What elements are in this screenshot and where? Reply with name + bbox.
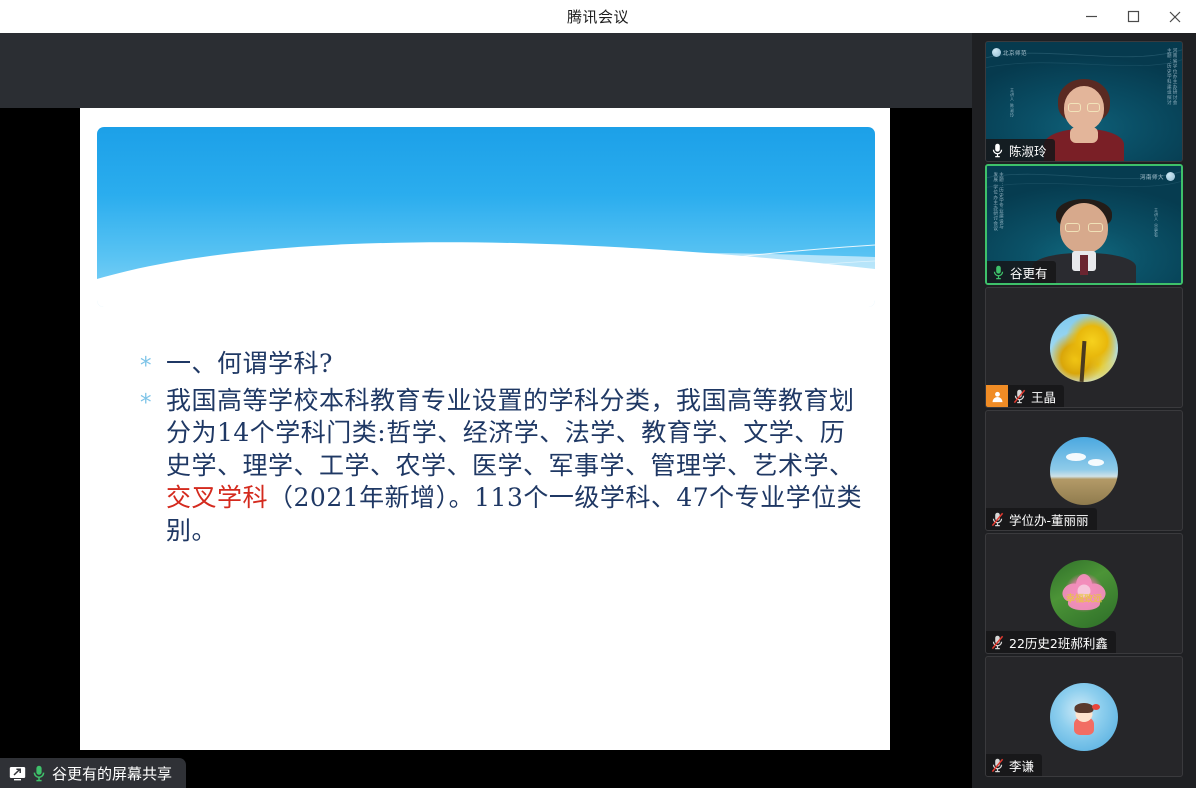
bullet-marker-icon: * xyxy=(140,348,166,378)
slide-bullet: * 我国高等学校本科教育专业设置的学科分类，我国高等教育划分为14个学科门类:哲… xyxy=(140,385,864,548)
bullet-marker-icon: * xyxy=(140,385,166,415)
participant-name-bar: 22历史2班郝利鑫 xyxy=(986,631,1116,653)
close-button[interactable] xyxy=(1154,0,1196,33)
institution-logo: 北京师范 xyxy=(992,48,1027,57)
participant-tile-5[interactable]: 幸福致远 22历史2班郝利鑫 xyxy=(985,533,1183,654)
video-overlay-text: 主讲人 谷更有 xyxy=(1154,208,1159,248)
microphone-icon xyxy=(33,765,45,782)
microphone-muted-icon xyxy=(1008,385,1030,407)
participant-name-bar: 李谦 xyxy=(986,754,1042,776)
slide-bullet: * 一、何谓学科? xyxy=(140,348,864,381)
microphone-muted-icon xyxy=(986,754,1008,776)
minimize-button[interactable] xyxy=(1070,0,1112,33)
video-overlay-text: 主题：历史学专业建设与发展 学位办主办研讨会议 xyxy=(992,172,1003,234)
close-icon xyxy=(1168,10,1182,24)
shared-screen-area[interactable]: * 一、何谓学科? * 我国高等学校本科教育专业设置的学科分类，我国高等教育划分… xyxy=(0,33,972,788)
participant-name: 22历史2班郝利鑫 xyxy=(1008,633,1108,652)
participant-avatar: 幸福致远 xyxy=(1050,560,1118,628)
participant-name-bar: 王晶 xyxy=(986,385,1064,407)
participant-name: 李谦 xyxy=(1008,756,1034,775)
participant-tile-2[interactable]: 河南师大 主题：历史学专业建设与发展 学位办主办研讨会议 主讲人 谷更有 xyxy=(985,164,1183,285)
participant-name-bar: 谷更有 xyxy=(987,261,1056,283)
microphone-icon xyxy=(986,139,1008,161)
participant-name: 陈淑玲 xyxy=(1008,141,1047,160)
video-overlay-text: 主讲人 陈淑玲 xyxy=(1010,88,1015,128)
bullet-text-part: 我国高等学校本科教育专业设置的学科分类，我国高等教育划分为14个学科门类:哲学、… xyxy=(166,386,855,480)
video-overlay-text: 河南省学位办主办研讨会 主题：历史学科建设探讨 xyxy=(1166,48,1177,110)
maximize-button[interactable] xyxy=(1112,0,1154,33)
bullet-text: 一、何谓学科? xyxy=(166,348,333,381)
participant-rail: 北京师范 河南省学位办主办研讨会 主题：历史学科建设探讨 主讲人 陈淑玲 xyxy=(972,33,1196,788)
participant-tile-4[interactable]: 学位办-董丽丽 xyxy=(985,410,1183,531)
shared-screen-top-strip xyxy=(0,33,972,108)
participant-tile-1[interactable]: 北京师范 河南省学位办主办研讨会 主题：历史学科建设探讨 主讲人 陈淑玲 xyxy=(985,41,1183,162)
slide-text-body: * 一、何谓学科? * 我国高等学校本科教育专业设置的学科分类，我国高等教育划分… xyxy=(140,348,864,551)
microphone-muted-icon xyxy=(986,631,1008,653)
microphone-icon xyxy=(987,261,1009,283)
banner-wave-graphic xyxy=(97,127,875,307)
bullet-text-highlight: 交叉学科 xyxy=(166,483,268,512)
participant-avatar xyxy=(1050,314,1118,382)
presentation-slide: * 一、何谓学科? * 我国高等学校本科教育专业设置的学科分类，我国高等教育划分… xyxy=(80,108,890,750)
institution-logo: 河南师大 xyxy=(1140,172,1175,181)
bullet-text-part: （2021年新增）。113个一级学科、47个专业学位类别。 xyxy=(166,483,862,545)
participant-name: 谷更有 xyxy=(1009,263,1048,282)
participant-name-bar: 学位办-董丽丽 xyxy=(986,508,1097,530)
minimize-icon xyxy=(1085,10,1098,23)
app-title: 腾讯会议 xyxy=(567,6,629,27)
participant-avatar xyxy=(1050,437,1118,505)
tencent-meeting-window: 腾讯会议 xyxy=(0,0,1196,788)
participant-name: 学位办-董丽丽 xyxy=(1008,510,1089,529)
screen-share-label: 谷更有的屏幕共享 xyxy=(52,763,172,784)
participant-tile-6[interactable]: 李谦 xyxy=(985,656,1183,777)
window-controls xyxy=(1070,0,1196,33)
participant-name: 王晶 xyxy=(1030,387,1056,406)
participant-tile-3[interactable]: 王晶 xyxy=(985,287,1183,408)
bullet-text: 我国高等学校本科教育专业设置的学科分类，我国高等教育划分为14个学科门类:哲学、… xyxy=(166,385,864,548)
screen-share-icon xyxy=(9,766,26,781)
maximize-icon xyxy=(1127,10,1140,23)
participant-name-bar: 陈淑玲 xyxy=(986,139,1055,161)
slide-banner xyxy=(97,127,875,307)
title-bar: 腾讯会议 xyxy=(0,0,1196,33)
host-badge-icon xyxy=(986,385,1008,407)
screen-share-indicator: 谷更有的屏幕共享 xyxy=(0,758,186,788)
microphone-muted-icon xyxy=(986,508,1008,530)
participant-avatar xyxy=(1050,683,1118,751)
